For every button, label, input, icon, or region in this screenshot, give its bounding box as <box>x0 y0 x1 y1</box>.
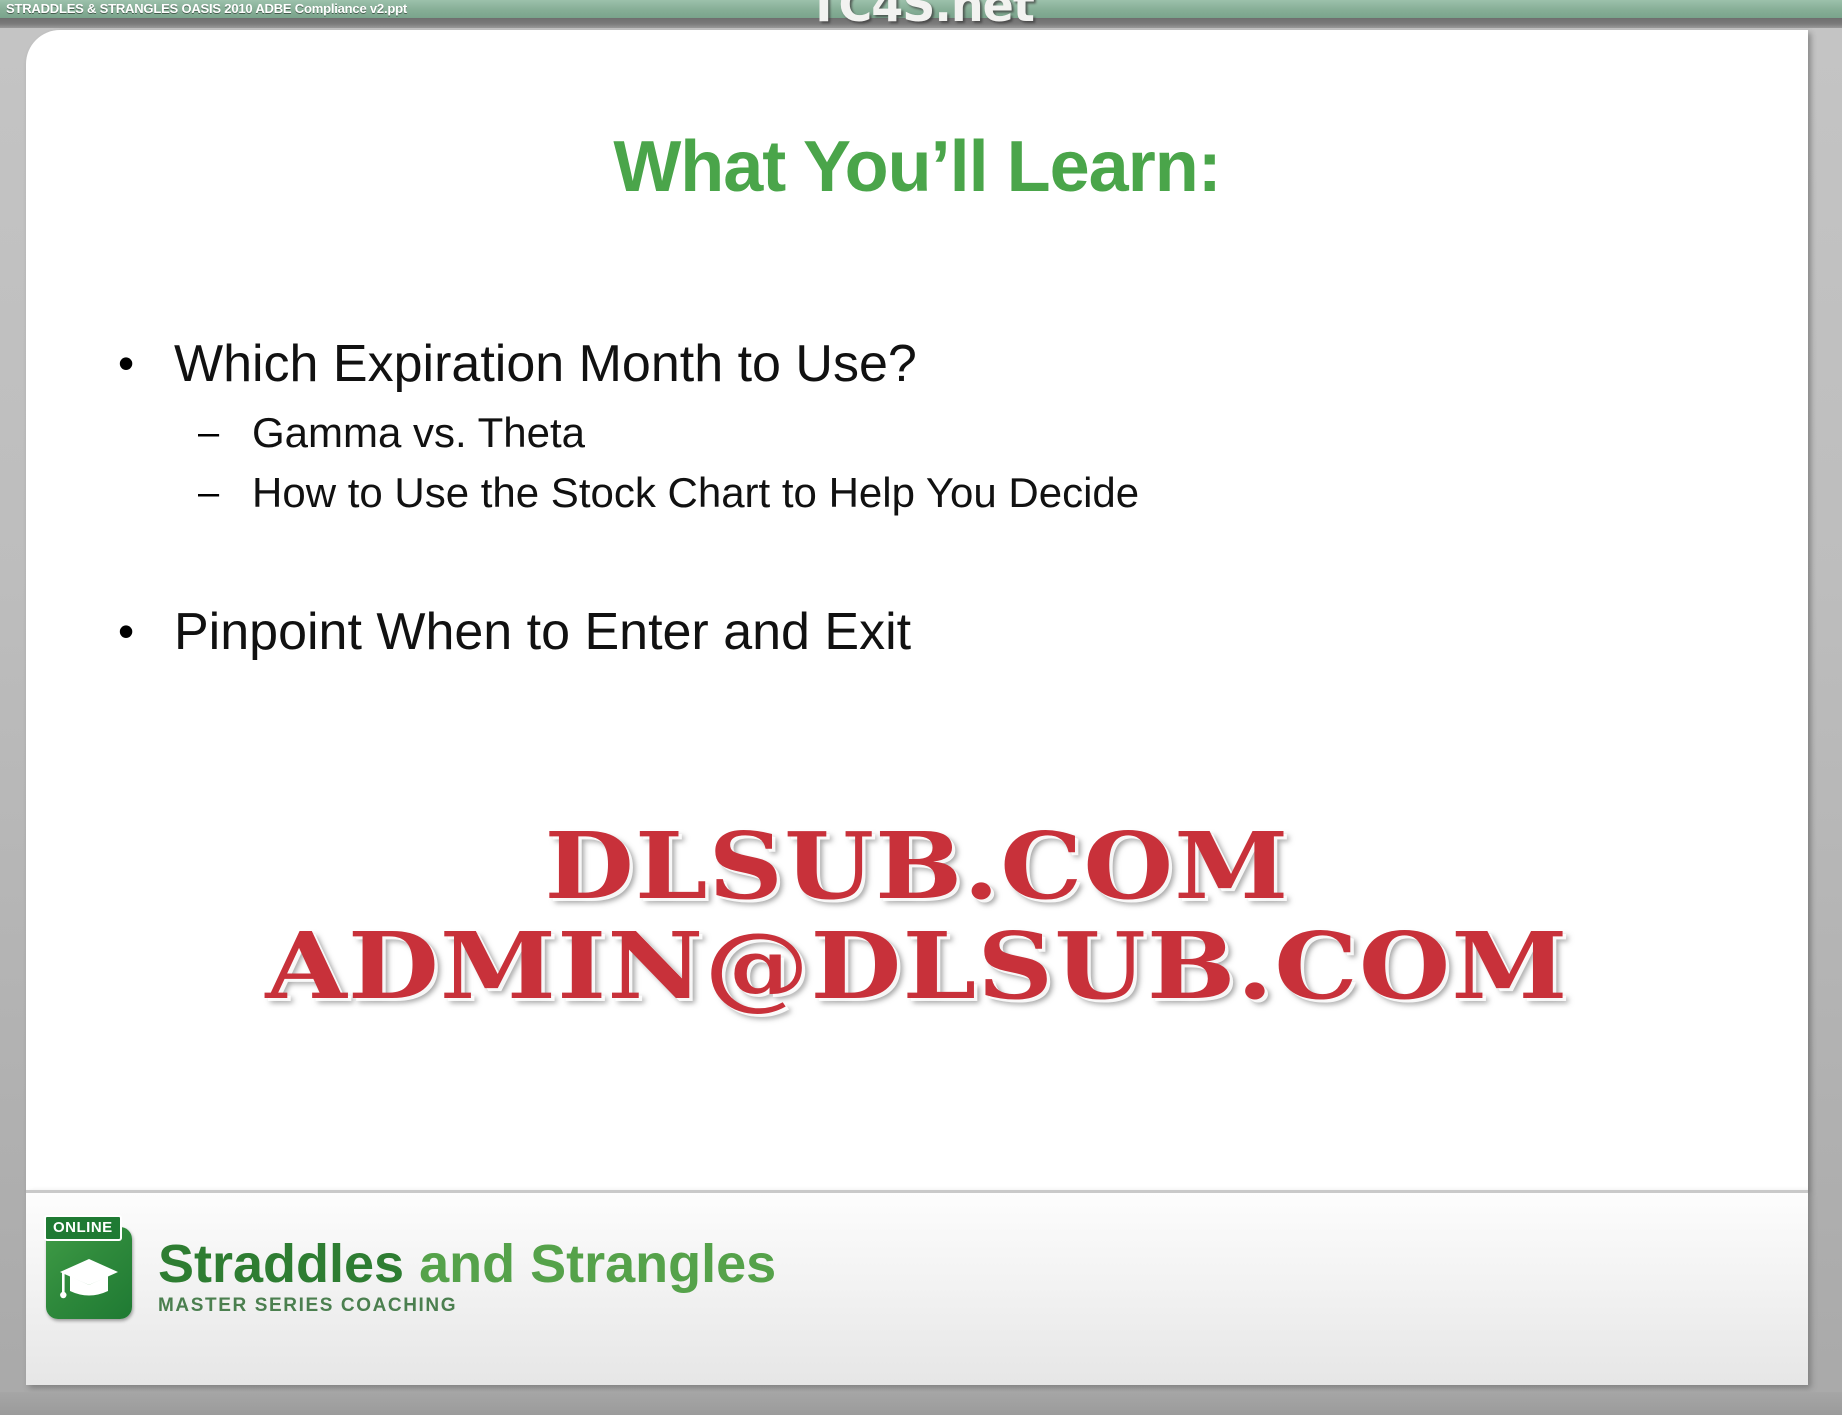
online-badge-label: ONLINE <box>44 1215 122 1241</box>
logo-badge: ONLINE <box>46 1227 132 1319</box>
bullet-text: Which Expiration Month to Use? <box>174 330 917 398</box>
window-title-text: STRADDLES & STRANGLES OASIS 2010 ADBE Co… <box>6 1 407 16</box>
bullet-marker-icon: • <box>106 598 174 664</box>
watermark-email-text: ADMIN@DLSUB.COM <box>26 920 1808 1014</box>
brand-name: Straddles and Strangles <box>158 1235 776 1293</box>
list-item: • Which Expiration Month to Use? <box>106 330 1746 398</box>
dash-marker-icon: – <box>198 464 252 522</box>
bullet-list: • Which Expiration Month to Use? – Gamma… <box>106 330 1746 672</box>
application-window: STRADDLES & STRANGLES OASIS 2010 ADBE Co… <box>0 0 1842 1415</box>
list-spacer <box>106 524 1746 598</box>
watermark-overlay: DLSUB.COM ADMIN@DLSUB.COM <box>26 820 1808 1014</box>
brand-text-block: Straddles and Strangles MASTER SERIES CO… <box>158 1227 776 1317</box>
sub-bullet-text: How to Use the Stock Chart to Help You D… <box>252 464 1139 522</box>
graduation-cap-icon <box>58 1257 120 1303</box>
bullet-marker-icon: • <box>106 330 174 396</box>
page-title: What You’ll Learn: <box>26 126 1808 208</box>
bullet-text: Pinpoint When to Enter and Exit <box>174 598 911 666</box>
list-item: • Pinpoint When to Enter and Exit <box>106 598 1746 666</box>
window-chrome-strip <box>0 18 1842 28</box>
brand-logo: ONLINE Straddles and Strangles MASTER SE… <box>46 1227 776 1319</box>
slide-page: What You’ll Learn: • Which Expiration Mo… <box>26 30 1808 1190</box>
list-item: – How to Use the Stock Chart to Help You… <box>198 464 1746 522</box>
brand-name-primary: Straddles <box>158 1234 404 1294</box>
brand-tagline: MASTER SERIES COACHING <box>158 1295 776 1317</box>
window-title-bar: STRADDLES & STRANGLES OASIS 2010 ADBE Co… <box>0 0 1842 18</box>
dash-marker-icon: – <box>198 404 252 462</box>
window-bottom-strip <box>0 1392 1842 1415</box>
footer-branding-bar: ONLINE Straddles and Strangles MASTER SE… <box>26 1190 1808 1385</box>
list-item: – Gamma vs. Theta <box>198 404 1746 462</box>
watermark-domain-text: DLSUB.COM <box>26 820 1808 914</box>
sub-bullet-text: Gamma vs. Theta <box>252 404 585 462</box>
brand-name-secondary: and Strangles <box>404 1234 776 1294</box>
